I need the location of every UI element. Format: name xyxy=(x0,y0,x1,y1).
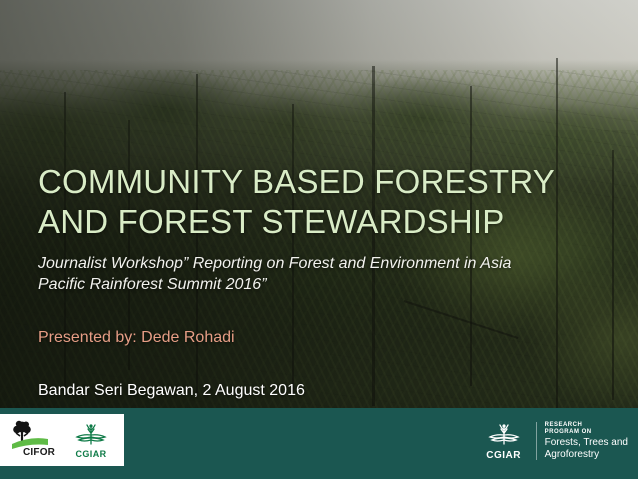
slide-subtitle: Journalist Workshop” Reporting on Forest… xyxy=(38,253,604,295)
presenter-line: Presented by: Dede Rohadi xyxy=(38,328,235,348)
cgiar-logo: CGIAR xyxy=(68,420,114,460)
cgiar-research-program-logo: CGIAR RESEARCH PROGRAM ON Forests, Trees… xyxy=(480,417,628,465)
footer-bar: CIFOR xyxy=(0,408,638,479)
cgiar-wheat-icon xyxy=(487,422,521,448)
slide-title: COMMUNITY BASED FORESTRY AND FOREST STEW… xyxy=(38,162,604,242)
crp-cgiar-wordmark: CGIAR xyxy=(486,450,521,461)
cgiar-wordmark: CGIAR xyxy=(76,449,107,459)
partner-logo-box: CIFOR xyxy=(0,414,124,466)
cgiar-wheat-icon xyxy=(74,422,108,448)
presentation-slide: COMMUNITY BASED FORESTRY AND FOREST STEW… xyxy=(0,0,638,479)
cifor-logo: CIFOR xyxy=(8,420,60,460)
crp-program-name: Forests, Trees and Agroforestry xyxy=(545,437,628,460)
cifor-wordmark: CIFOR xyxy=(23,447,55,458)
crp-text-block: RESEARCH PROGRAM ON Forests, Trees and A… xyxy=(545,422,628,461)
crp-eyebrow: RESEARCH PROGRAM ON xyxy=(545,422,628,436)
crp-cgiar-mark: CGIAR xyxy=(480,422,528,461)
venue-date-line: Bandar Seri Begawan, 2 August 2016 xyxy=(38,381,305,401)
crp-divider xyxy=(536,422,537,460)
title-block: COMMUNITY BASED FORESTRY AND FOREST STEW… xyxy=(38,162,604,295)
